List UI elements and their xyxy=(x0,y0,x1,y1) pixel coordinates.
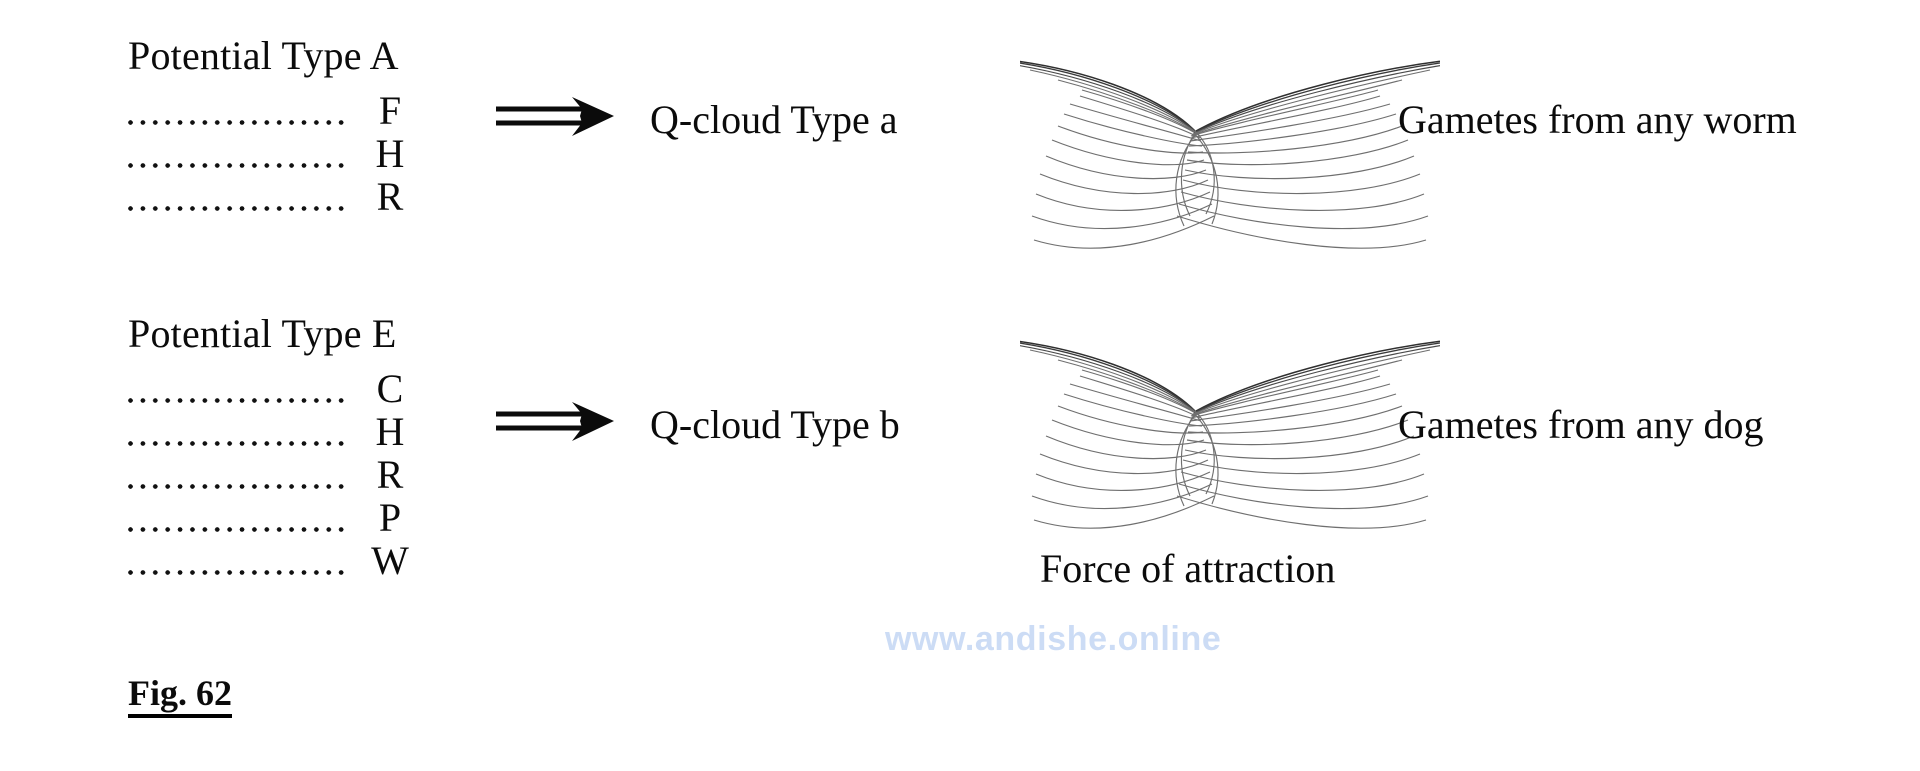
component-letter: R xyxy=(360,455,420,495)
dot-leader xyxy=(128,372,350,412)
field-lines-graphic-a xyxy=(1020,0,1440,290)
dot-leader xyxy=(128,415,350,455)
figure-canvas: Potential Type A F H R Q-cloud Type a xyxy=(0,0,1920,771)
component-row: C xyxy=(128,370,420,413)
component-letter: C xyxy=(360,369,420,409)
component-letter: H xyxy=(360,134,420,174)
component-list-a: F H R xyxy=(128,92,420,221)
dot-leader xyxy=(128,544,350,584)
potential-title-b: Potential Type E xyxy=(128,314,420,354)
field-lines-graphic-b xyxy=(1020,280,1440,570)
dot-leader xyxy=(128,180,350,220)
gamete-label-b: Gametes from any dog xyxy=(1398,405,1763,445)
qcloud-label-a: Q-cloud Type a xyxy=(650,100,898,140)
component-row: H xyxy=(128,413,420,456)
component-row: P xyxy=(128,499,420,542)
component-letter: H xyxy=(360,412,420,452)
component-row: F xyxy=(128,92,420,135)
component-row: H xyxy=(128,135,420,178)
double-right-arrow-icon xyxy=(494,400,616,444)
component-row: R xyxy=(128,456,420,499)
component-row: R xyxy=(128,178,420,221)
figure-caption: Fig. 62 xyxy=(128,675,232,718)
component-letter: F xyxy=(360,91,420,131)
potential-block-b: Potential Type E C H R P W xyxy=(128,314,420,585)
component-list-b: C H R P W xyxy=(128,370,420,585)
potential-title-a: Potential Type A xyxy=(128,36,420,76)
watermark: www.andishe.online xyxy=(885,620,1221,659)
component-letter: R xyxy=(360,177,420,217)
gamete-label-a: Gametes from any worm xyxy=(1398,100,1797,140)
double-right-arrow-icon xyxy=(494,95,616,139)
dot-leader xyxy=(128,94,350,134)
dot-leader xyxy=(128,458,350,498)
dot-leader xyxy=(128,501,350,541)
qcloud-label-b: Q-cloud Type b xyxy=(650,405,900,445)
potential-block-a: Potential Type A F H R xyxy=(128,36,420,221)
component-letter: W xyxy=(360,541,420,581)
dot-leader xyxy=(128,137,350,177)
component-row: W xyxy=(128,542,420,585)
component-letter: P xyxy=(360,498,420,538)
force-of-attraction-caption: Force of attraction xyxy=(1040,549,1335,589)
